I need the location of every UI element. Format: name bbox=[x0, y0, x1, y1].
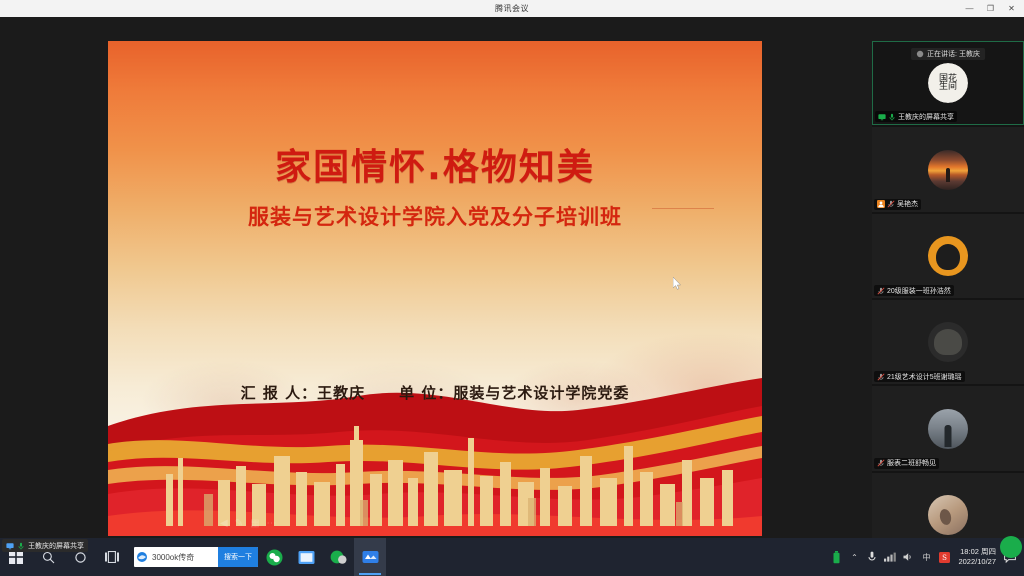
avatar bbox=[928, 409, 968, 449]
avatar bbox=[928, 495, 968, 535]
mic-muted-icon bbox=[877, 459, 885, 467]
night-figure-avatar bbox=[928, 409, 968, 449]
slide-presenter: 汇 报 人：王教庆 bbox=[241, 382, 365, 403]
speaking-badge: 正在讲话: 王教庆 bbox=[911, 48, 985, 60]
ime-cn-icon[interactable]: 中 bbox=[920, 538, 932, 576]
meeting-body: 家国情怀.格物知美 服装与艺术设计学院入党及分子培训班 汇 报 人：王教庆 单 … bbox=[0, 17, 1024, 538]
sunset-silhouette-avatar bbox=[928, 150, 968, 190]
network-icon[interactable] bbox=[884, 538, 896, 576]
window-title: 腾讯会议 bbox=[495, 3, 529, 14]
windows-taskbar[interactable]: 3000ok传奇 搜索一下 bbox=[0, 538, 1024, 576]
mic-icon bbox=[17, 542, 25, 550]
participant-namebar-3: 21级艺术设计5班谢璐瑶 bbox=[874, 371, 965, 382]
meeting-icon[interactable] bbox=[354, 538, 386, 576]
seal-calligraphy-avatar: 国花生间 bbox=[928, 63, 968, 103]
host-icon bbox=[877, 200, 885, 208]
clock-time: 18:02 周四 bbox=[960, 547, 996, 557]
avatar bbox=[928, 322, 968, 362]
slide-subtitle: 服装与艺术设计学院入党及分子培训班 bbox=[108, 201, 762, 231]
mic-muted-icon bbox=[877, 373, 885, 381]
participant-name-3: 21级艺术设计5班谢璐瑶 bbox=[887, 372, 962, 382]
screen-share-icon bbox=[6, 542, 14, 550]
slide-title: 家国情怀.格物知美 bbox=[108, 138, 762, 190]
task-view-icon[interactable] bbox=[96, 538, 128, 576]
search-go-button[interactable]: 搜索一下 bbox=[218, 547, 258, 567]
screen-share-status-label: 王教庆的屏幕共享 bbox=[28, 541, 84, 551]
mic-icon[interactable] bbox=[866, 538, 878, 576]
avatar: 国花生间 bbox=[928, 63, 968, 103]
ie-icon bbox=[134, 551, 150, 563]
maximize-icon[interactable]: ❐ bbox=[980, 0, 1001, 17]
participant-tile-0[interactable]: 正在讲话: 王教庆 国花生间 王教庆的屏幕共享 bbox=[872, 41, 1024, 125]
participant-name-0: 王教庆的屏幕共享 bbox=[898, 112, 954, 122]
taskbar-search-box[interactable]: 3000ok传奇 搜索一下 bbox=[134, 547, 258, 567]
taskbar-clock[interactable]: 18:02 周四 2022/10/27 bbox=[958, 538, 996, 576]
svg-text:S: S bbox=[942, 554, 947, 562]
ppt-grid-icon[interactable]: ▦ bbox=[250, 518, 259, 529]
helmet-avatar bbox=[928, 322, 968, 362]
clock-date: 2022/10/27 bbox=[958, 557, 996, 567]
battery-icon[interactable] bbox=[830, 538, 842, 576]
chevron-up-icon[interactable]: ⌃ bbox=[848, 538, 860, 576]
window-titlebar: 腾讯会议 — ❐ ✕ bbox=[0, 0, 1024, 17]
mic-icon bbox=[888, 113, 896, 121]
system-tray[interactable]: ⌃ 中 bbox=[830, 538, 1024, 576]
slide-divider bbox=[652, 208, 714, 209]
ppt-more-icon[interactable]: ⋯ bbox=[267, 518, 277, 529]
avatar bbox=[928, 150, 968, 190]
shared-screen[interactable]: 家国情怀.格物知美 服装与艺术设计学院入党及分子培训班 汇 报 人：王教庆 单 … bbox=[108, 41, 762, 536]
ppt-presentation-controls[interactable]: ◀ ✎ ▦ ⋯ bbox=[220, 518, 277, 529]
mouse-cursor bbox=[673, 277, 682, 290]
participant-name-1: 吴艳杰 bbox=[897, 199, 918, 209]
participant-tile-3[interactable]: 21级艺术设计5班谢璐瑶 bbox=[872, 300, 1024, 384]
folder-icon[interactable] bbox=[290, 538, 322, 576]
participant-tile-1[interactable]: 吴艳杰 bbox=[872, 127, 1024, 211]
participant-tile-2[interactable]: 20级服装一班孙浩然 bbox=[872, 214, 1024, 298]
wps-icon[interactable]: S bbox=[938, 538, 950, 576]
mic-muted-icon bbox=[887, 200, 895, 208]
screen-root: 腾讯会议 — ❐ ✕ bbox=[0, 0, 1024, 576]
participant-rail[interactable]: 正在讲话: 王教庆 国花生间 王教庆的屏幕共享 bbox=[872, 41, 1024, 557]
minimize-icon[interactable]: — bbox=[959, 0, 980, 17]
participant-namebar-0: 王教庆的屏幕共享 bbox=[875, 111, 957, 122]
participant-tile-4[interactable]: 服表二班舒畅见 bbox=[872, 386, 1024, 470]
participant-namebar-2: 20级服装一班孙浩然 bbox=[874, 285, 954, 296]
participant-namebar-1: 吴艳杰 bbox=[874, 199, 921, 210]
wechat-icon[interactable] bbox=[258, 538, 290, 576]
mic-muted-icon bbox=[877, 287, 885, 295]
qq-icon[interactable] bbox=[322, 538, 354, 576]
ppt-prev-icon[interactable]: ◀ bbox=[220, 518, 228, 529]
participant-name-2: 20级服装一班孙浩然 bbox=[887, 286, 951, 296]
participant-namebar-4: 服表二班舒畅见 bbox=[874, 458, 939, 469]
floating-green-button[interactable] bbox=[1000, 536, 1022, 558]
screen-share-icon bbox=[878, 113, 886, 121]
slide-footer: 汇 报 人：王教庆 单 位：服装与艺术设计学院党委 bbox=[108, 382, 762, 403]
ppt-pen-icon[interactable]: ✎ bbox=[235, 518, 243, 529]
close-icon[interactable]: ✕ bbox=[1001, 0, 1022, 17]
speaking-label: 正在讲话: 王教庆 bbox=[927, 49, 980, 59]
volume-icon[interactable] bbox=[902, 538, 914, 576]
screen-share-status-chip[interactable]: 王教庆的屏幕共享 bbox=[2, 539, 88, 552]
dog-avatar bbox=[928, 495, 968, 535]
speaker-icon bbox=[916, 50, 924, 58]
golden-city-skyline bbox=[108, 416, 762, 526]
search-input[interactable]: 3000ok传奇 bbox=[150, 552, 218, 563]
slide-unit: 单 位：服装与艺术设计学院党委 bbox=[399, 382, 629, 403]
window-controls: — ❐ ✕ bbox=[959, 0, 1022, 17]
orange-cat-avatar bbox=[928, 236, 968, 276]
participant-name-4: 服表二班舒畅见 bbox=[887, 458, 936, 468]
avatar bbox=[928, 236, 968, 276]
